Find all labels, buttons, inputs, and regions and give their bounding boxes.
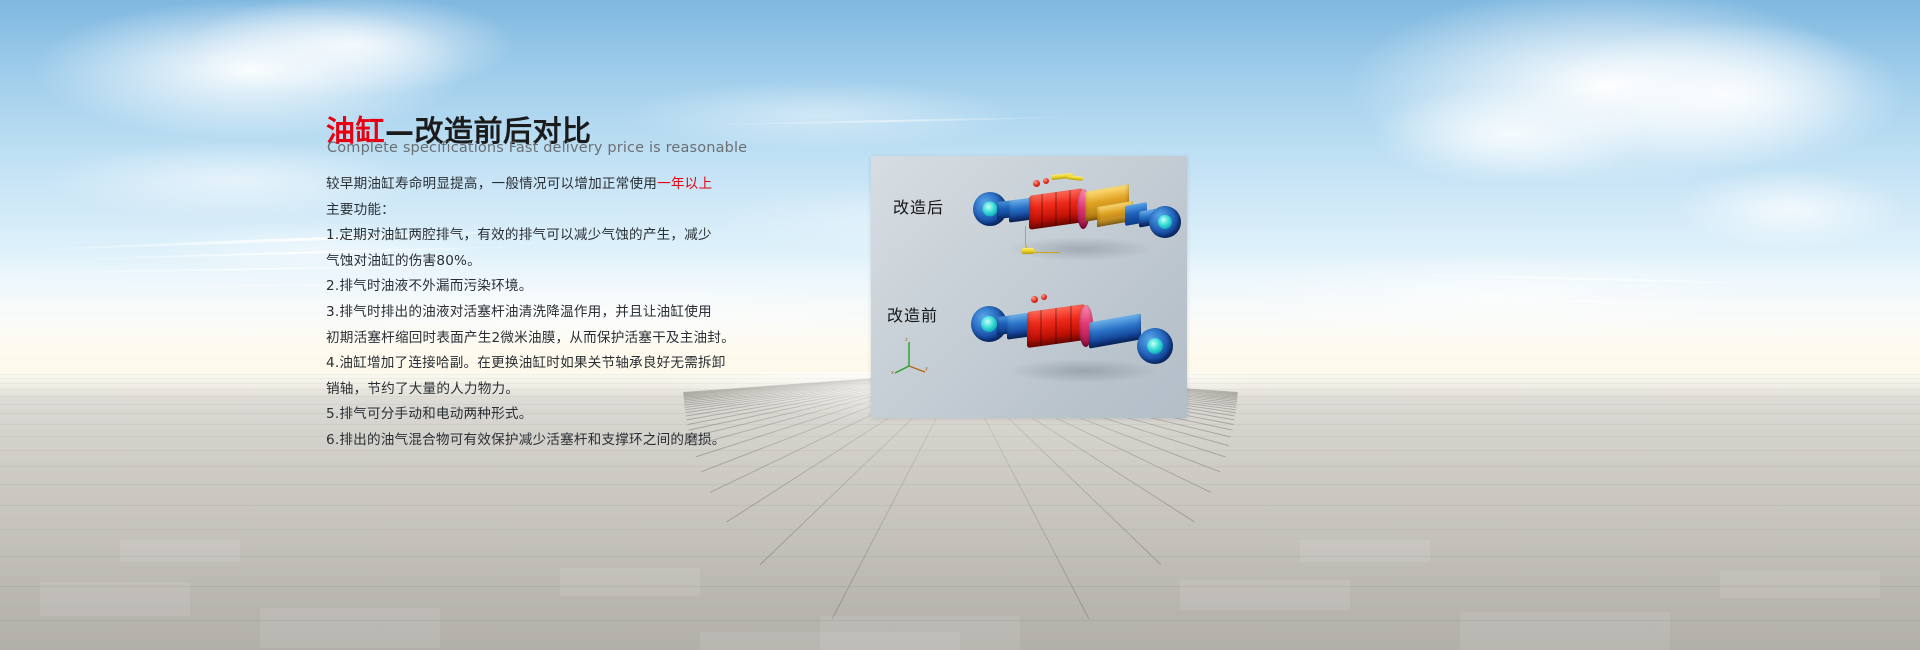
description-line: 2.排气时油液不外漏而污染环境。 [326, 274, 746, 300]
banner-stage: 油缸—改造前后对比 Complete specifications Fast d… [0, 0, 1920, 650]
description-text: 1.定期对油缸两腔排气，有效的排气可以减少气蚀的产生，减少 [326, 227, 712, 243]
description-text: 较早期油缸寿命明显提高，一般情况可以增加正常使用 [326, 176, 657, 192]
description-text: 6.排出的油气混合物可有效保护减少活塞杆和支撑环之间的磨损。 [326, 432, 726, 448]
cylinder-barrel-icon [1027, 304, 1085, 348]
page-subtitle: Complete specifications Fast delivery pr… [327, 140, 747, 156]
coordinate-axes-icon: z x y [891, 336, 931, 376]
description-line: 6.排出的油气混合物可有效保护减少活塞杆和支撑环之间的磨损。 [326, 428, 746, 454]
description-line: 销轴，节约了大量的人力物力。 [326, 377, 746, 403]
valve-knob-icon [1041, 294, 1047, 300]
description-text: 初期活塞杆缩回时表面产生2微米油膜，从而保护活塞干及主油封。 [326, 330, 735, 346]
description-text: 3.排气时排出的油液对活塞杆油清洗降温作用，并且让油缸使用 [326, 304, 712, 320]
label-before-modification: 改造前 [887, 302, 938, 326]
description-line: 初期活塞杆缩回时表面产生2微米油膜，从而保护活塞干及主油封。 [326, 326, 746, 352]
description-text: 主要功能： [326, 202, 395, 218]
description-text: 销轴，节约了大量的人力物力。 [326, 381, 519, 397]
feature-description-list: 较早期油缸寿命明显提高，一般情况可以增加正常使用一年以上主要功能：1.定期对油缸… [326, 172, 746, 454]
description-line: 1.定期对油缸两腔排气，有效的排气可以减少气蚀的产生，减少 [326, 223, 746, 249]
svg-text:y: y [925, 366, 928, 372]
svg-text:z: z [905, 337, 908, 343]
description-text: 4.油缸增加了连接哈副。在更换油缸时如果关节轴承良好无需拆卸 [326, 355, 726, 371]
comparison-image-panel[interactable]: 改造后 改造前 [871, 156, 1187, 418]
description-text: 气蚀对油缸的伤害80%。 [326, 253, 481, 269]
description-line: 气蚀对油缸的伤害80%。 [326, 249, 746, 275]
valve-knob-icon [1031, 296, 1038, 303]
hydraulic-cylinder-after-modification [979, 170, 1179, 280]
hydraulic-cylinder-before-modification [979, 288, 1184, 400]
cylinder-rod-icon [1089, 313, 1141, 348]
valve-knob-icon [1043, 178, 1049, 184]
description-line: 5.排气可分手动和电动两种形式。 [326, 402, 746, 428]
cylinder-eye-right-icon [1137, 328, 1173, 364]
cylinder-eye-right-icon [1149, 206, 1181, 238]
description-text: 5.排气可分手动和电动两种形式。 [326, 406, 532, 422]
description-line: 较早期油缸寿命明显提高，一般情况可以增加正常使用一年以上 [326, 172, 746, 198]
banner-content: 油缸—改造前后对比 Complete specifications Fast d… [0, 0, 1920, 650]
label-after-modification: 改造后 [893, 194, 944, 218]
exhaust-tube-icon [1067, 175, 1083, 181]
description-text: 2.排气时油液不外漏而污染环境。 [326, 278, 532, 294]
svg-text:x: x [891, 370, 894, 376]
description-highlight: 一年以上 [657, 176, 712, 192]
description-line: 4.油缸增加了连接哈副。在更换油缸时如果关节轴承良好无需拆卸 [326, 351, 746, 377]
description-line: 主要功能： [326, 198, 746, 224]
valve-knob-icon [1033, 180, 1040, 187]
exhaust-fitting-icon [1021, 248, 1035, 254]
cylinder-barrel-icon [1029, 188, 1083, 230]
description-line: 3.排气时排出的油液对活塞杆油清洗降温作用，并且让油缸使用 [326, 300, 746, 326]
